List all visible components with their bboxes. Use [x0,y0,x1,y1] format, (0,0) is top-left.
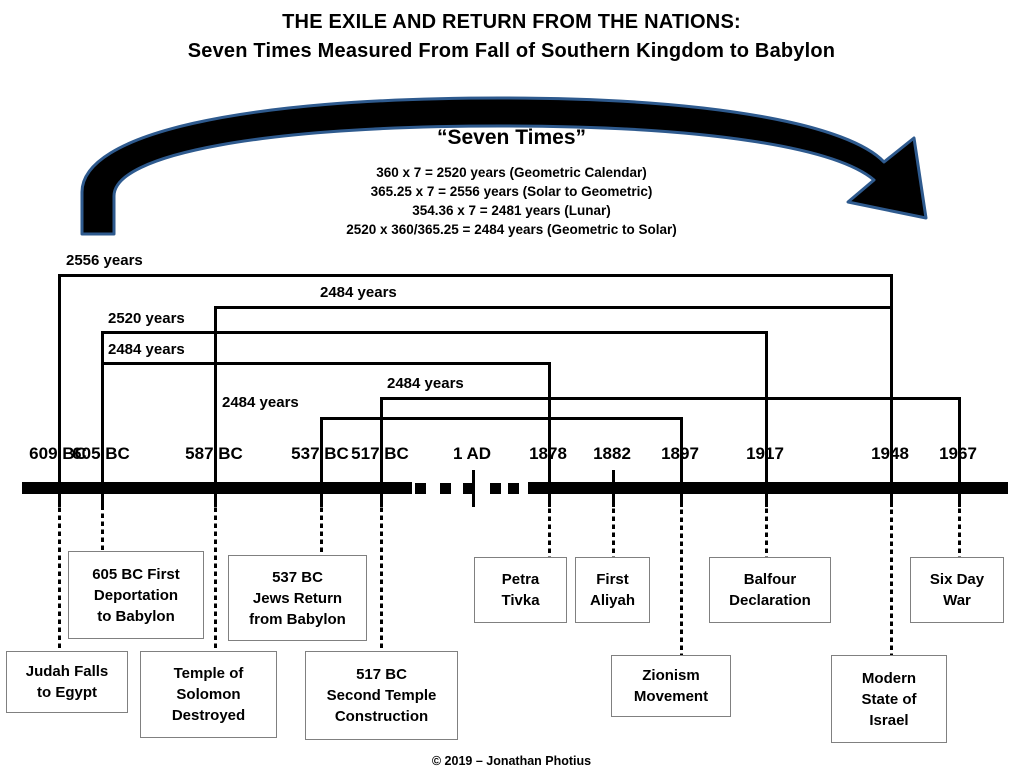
timeline-date-label: 1878 [529,444,567,464]
bracket-span-bar [320,417,683,420]
timeline-date-label: 1897 [661,444,699,464]
timeline-date-label: 1917 [746,444,784,464]
event-box[interactable]: ZionismMovement [611,655,731,717]
event-box-label: Six DayWar [930,569,984,611]
bracket-label: 2484 years [387,375,464,392]
event-box-label: Temple ofSolomonDestroyed [172,663,245,726]
bracket-span-bar [101,331,768,334]
event-box-label: ModernState ofIsrael [861,668,916,731]
bracket-label: 2484 years [320,284,397,301]
timeline-date-label: 1882 [593,444,631,464]
timeline-date-label: 587 BC [185,444,243,464]
formula-line-1: 360 x 7 = 2520 years (Geometric Calendar… [0,163,1023,182]
timeline-date-label: 605 BC [72,444,130,464]
event-box[interactable]: BalfourDeclaration [709,557,831,623]
timeline-bar-left [22,482,412,494]
bracket-label: 2520 years [108,310,185,327]
timeline-tick-mark [472,470,475,507]
bracket-leg [58,274,61,470]
event-leader-line [214,494,217,657]
bracket-label: 2484 years [222,394,299,411]
event-box-label: BalfourDeclaration [729,569,811,611]
formula-line-2: 365.25 x 7 = 2556 years (Solar to Geomet… [0,182,1023,201]
event-leader-line [58,494,61,657]
event-leader-line [320,494,323,561]
arc-subheadline: “Seven Times” [0,126,1023,150]
timeline-date-label: 1967 [939,444,977,464]
event-box[interactable]: 517 BCSecond TempleConstruction [305,651,458,740]
event-box[interactable]: Temple ofSolomonDestroyed [140,651,277,738]
bracket-label: 2484 years [108,341,185,358]
event-leader-line [765,494,768,563]
event-box-label: 517 BCSecond TempleConstruction [327,664,437,727]
event-leader-line [680,494,683,661]
timeline-date-label: 537 BC [291,444,349,464]
bracket-span-bar [380,397,961,400]
event-box[interactable]: FirstAliyah [575,557,650,623]
event-box-label: 537 BCJews Returnfrom Babylon [249,567,346,630]
timeline-gap-dot [440,483,451,494]
event-leader-line [101,494,104,557]
event-box[interactable]: 605 BC FirstDeportationto Babylon [68,551,204,639]
timeline-gap-dot [490,483,501,494]
event-leader-line [612,494,615,563]
title-line-1: THE EXILE AND RETURN FROM THE NATIONS: [0,8,1023,36]
event-box[interactable]: Judah Fallsto Egypt [6,651,128,713]
bracket-label: 2556 years [66,252,143,269]
event-box[interactable]: 537 BCJews Returnfrom Babylon [228,555,367,641]
timeline-date-label: 1948 [871,444,909,464]
event-box-label: Judah Fallsto Egypt [26,661,109,703]
event-leader-line [890,494,893,661]
event-box[interactable]: PetraTivka [474,557,567,623]
event-box[interactable]: ModernState ofIsrael [831,655,947,743]
arc-headline: 2520 Years [0,98,1023,122]
bracket-span-bar [58,274,893,277]
event-leader-line [958,494,961,563]
formula-line-3: 354.36 x 7 = 2481 years (Lunar) [0,201,1023,220]
event-box-label: PetraTivka [501,569,539,611]
timeline-bar-right [528,482,1008,494]
timeline-diagram: THE EXILE AND RETURN FROM THE NATIONS: S… [0,0,1023,783]
page-title: THE EXILE AND RETURN FROM THE NATIONS: S… [0,8,1023,66]
formula-line-4: 2520 x 360/365.25 = 2484 years (Geometri… [0,220,1023,239]
bracket-span-bar [214,306,893,309]
timeline-gap-dot [415,483,426,494]
event-box-label: 605 BC FirstDeportationto Babylon [92,564,180,627]
timeline-date-label: 517 BC [351,444,409,464]
event-leader-line [380,494,383,657]
bracket-span-bar [101,362,551,365]
event-box-label: FirstAliyah [590,569,635,611]
timeline-gap-dot [508,483,519,494]
timeline-date-label: 1 AD [453,444,491,464]
event-leader-line [548,494,551,563]
copyright-footer: © 2019 – Jonathan Photius [0,754,1023,768]
event-box-label: ZionismMovement [634,665,708,707]
title-line-2: Seven Times Measured From Fall of Southe… [0,36,1023,66]
event-box[interactable]: Six DayWar [910,557,1004,623]
